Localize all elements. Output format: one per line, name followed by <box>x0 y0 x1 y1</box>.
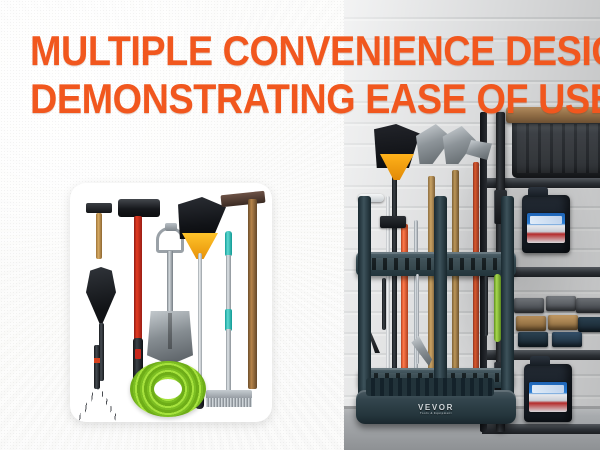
rack-leg-left <box>358 196 371 396</box>
tool-handle-spade <box>452 170 459 398</box>
hand-tool-head <box>380 216 406 228</box>
hanging-green-strap <box>494 274 501 342</box>
oil-jug-lower <box>524 364 572 422</box>
garage-photo: VEVOR Tools & Equipment <box>344 0 600 450</box>
crate <box>548 315 578 330</box>
tool-handle-broom <box>392 158 397 400</box>
wood-lid-bin <box>512 118 600 178</box>
tool-handle-hoe <box>473 162 479 398</box>
parts-crates <box>512 292 600 344</box>
rack-leg-center <box>434 196 447 396</box>
crate <box>576 298 600 313</box>
crate <box>552 332 582 347</box>
poster-canvas: VEVOR Tools & Equipment MULTIPLE CONVENI… <box>0 0 600 450</box>
oil-jug-upper <box>522 195 570 253</box>
crate <box>514 298 544 313</box>
rack-base: VEVOR Tools & Equipment <box>356 390 516 424</box>
crate <box>516 316 546 331</box>
crate <box>546 296 576 311</box>
oil-jug-label <box>527 213 565 243</box>
crate <box>518 332 548 347</box>
hanging-dark-tool <box>484 276 488 336</box>
brand-tagline: Tools & Equipment <box>356 412 516 415</box>
rack-brand-logo: VEVOR Tools & Equipment <box>356 403 516 415</box>
hanging-pruner <box>382 278 386 330</box>
vevor-tool-rack: VEVOR Tools & Equipment <box>356 124 516 424</box>
brand-name: VEVOR <box>418 403 454 412</box>
rack-leg-right <box>501 196 514 396</box>
crate <box>578 317 600 332</box>
oil-jug-label <box>529 382 567 412</box>
garden-tool-collage <box>70 183 272 422</box>
rack-base-drain-grid <box>366 378 494 396</box>
